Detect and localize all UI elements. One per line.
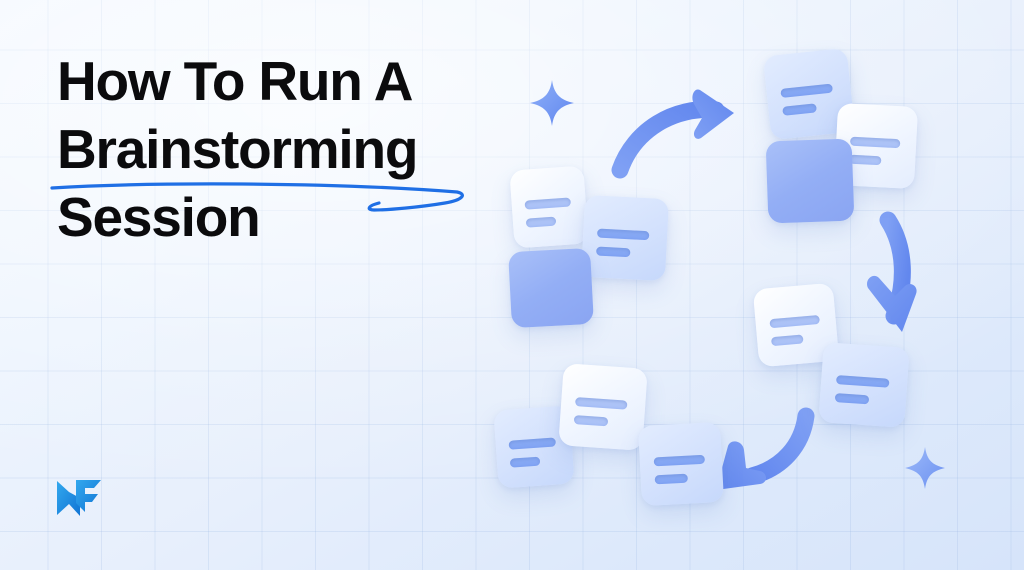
mf-monogram-logo xyxy=(56,479,102,517)
sticky-note xyxy=(508,248,594,328)
note-text-line xyxy=(769,315,820,328)
note-text-line xyxy=(849,155,881,166)
note-text-line xyxy=(509,437,557,449)
note-text-line xyxy=(850,137,900,149)
note-text-line xyxy=(655,474,688,485)
arrow-curved-down-left-icon xyxy=(710,412,820,502)
sticky-note xyxy=(638,422,724,506)
note-text-line xyxy=(510,457,541,468)
title-line-1: How To Run A xyxy=(57,47,527,115)
sparkle-icon xyxy=(905,447,945,489)
note-text-line xyxy=(596,247,630,258)
note-text-line xyxy=(526,217,557,228)
note-text-line xyxy=(780,84,833,98)
note-text-line xyxy=(654,455,705,467)
sticky-note xyxy=(558,363,648,451)
page-title: How To Run A Brainstorming Session xyxy=(57,47,527,251)
note-text-line xyxy=(597,229,649,241)
note-text-line xyxy=(525,197,572,209)
title-line-3: Session xyxy=(57,183,527,251)
note-text-line xyxy=(575,397,628,410)
sticky-note xyxy=(766,139,855,224)
sparkle-icon xyxy=(530,80,574,126)
note-text-line xyxy=(574,415,609,426)
note-text-line xyxy=(835,393,870,404)
arrow-curved-right-icon xyxy=(612,86,744,178)
title-line-2: Brainstorming xyxy=(57,115,527,183)
sticky-note xyxy=(581,195,669,281)
note-text-line xyxy=(782,103,817,116)
poster-canvas: How To Run A Brainstorming Session xyxy=(0,0,1024,570)
note-text-line xyxy=(836,375,889,388)
brainstorming-sticky-notes-illustration xyxy=(460,0,1024,570)
sticky-note xyxy=(509,166,588,249)
arrow-curved-down-icon xyxy=(860,212,930,342)
sticky-note xyxy=(818,342,909,428)
note-text-line xyxy=(771,334,804,346)
